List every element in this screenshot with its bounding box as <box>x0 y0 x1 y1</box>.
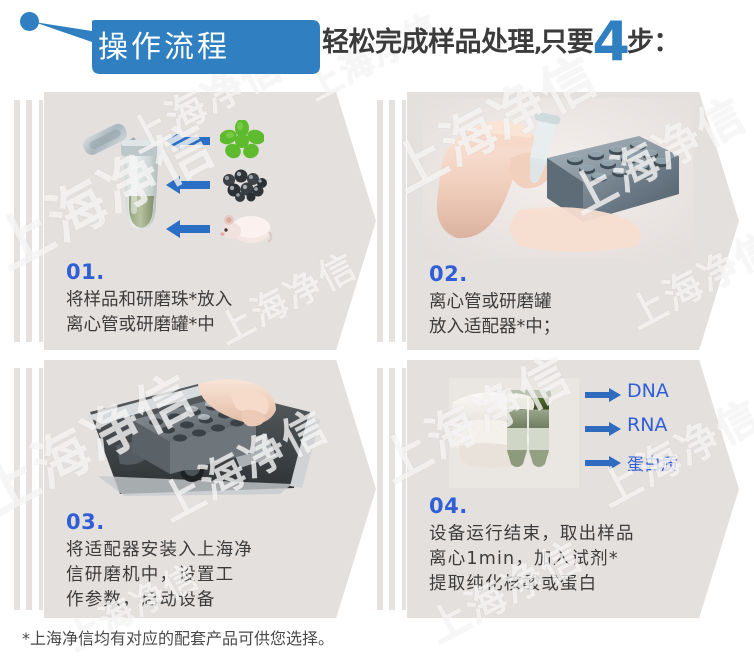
page-root: 操作流程 轻松完成样品处理,只要4步： <box>0 0 754 668</box>
step-number: 02. <box>429 262 468 286</box>
footer-note: *上海净信均有对应的配套产品可供您选择。 <box>22 628 334 650</box>
card-stripes <box>14 368 48 610</box>
arrow-right-icon <box>585 388 621 402</box>
section-banner: 操作流程 <box>20 8 320 74</box>
arrow-left-icon <box>166 220 210 238</box>
step-text: 设备运行结束，取出样品 离心1min，加入试剂* 提取纯化核酸或蛋白 <box>429 522 729 597</box>
mouse-icon <box>220 208 274 246</box>
banner-label: 操作流程 <box>98 26 308 70</box>
card-stripe <box>14 368 20 610</box>
step-number: 01. <box>66 260 105 284</box>
card-stripe <box>389 368 395 610</box>
card-stripes <box>377 100 411 342</box>
step-number: 04. <box>429 494 468 518</box>
grinding-beads-icon <box>220 166 268 202</box>
card-stripe <box>26 100 32 342</box>
output-label-protein: 蛋白质 <box>627 450 678 475</box>
step-text: 离心管或研磨罐 放入适配器*中； <box>429 290 719 340</box>
page-title-suffix: 步： <box>627 27 680 58</box>
card-stripe <box>14 100 20 342</box>
image-hand-loading-adapter <box>423 98 693 258</box>
step-card-01: 01. 将样品和研磨珠*放入 离心管或研磨罐*中 <box>14 92 376 350</box>
arrow-right-icon <box>585 456 621 470</box>
page-header: 操作流程 轻松完成样品处理,只要4步： <box>0 0 754 86</box>
card-stripe <box>377 100 383 342</box>
steps-grid: 01. 将样品和研磨珠*放入 离心管或研磨罐*中 <box>0 86 754 624</box>
card-stripe <box>26 368 32 610</box>
card-body: DNA RNA 蛋白质 04. 设备运行结束，取出样品 离心1min，加入试剂*… <box>407 360 739 618</box>
output-label-rna: RNA <box>627 414 667 436</box>
card-stripe <box>402 100 406 342</box>
card-stripe <box>377 368 383 610</box>
card-body: 02. 离心管或研磨罐 放入适配器*中； <box>407 92 739 350</box>
page-title-step-count: 4 <box>592 10 628 73</box>
page-title-mid: 只要 <box>540 27 593 58</box>
card-stripes <box>14 100 48 342</box>
step-text: 将样品和研磨珠*放入 离心管或研磨罐*中 <box>66 288 356 338</box>
page-title: 轻松完成样品处理,只要4步： <box>322 14 680 70</box>
image-installing-adapter <box>80 376 330 506</box>
image-gloved-hand-tubes <box>449 378 579 488</box>
card-body: 01. 将样品和研磨珠*放入 离心管或研磨罐*中 <box>44 92 376 350</box>
step-text: 将适配器安装入上海净 信研磨机中，设置工 作参数，启动设备 <box>66 538 362 613</box>
step-card-03: 03. 将适配器安装入上海净 信研磨机中，设置工 作参数，启动设备 <box>14 360 376 618</box>
step-number: 03. <box>66 510 105 534</box>
page-title-prefix: 轻松完成样品处理 <box>322 27 534 58</box>
step-card-02: 02. 离心管或研磨罐 放入适配器*中； <box>377 92 739 350</box>
output-label-dna: DNA <box>627 380 669 402</box>
card-stripe <box>39 100 43 342</box>
card-stripe <box>39 368 43 610</box>
step-card-04: DNA RNA 蛋白质 04. 设备运行结束，取出样品 离心1min，加入试剂*… <box>377 360 739 618</box>
leaf-icon <box>220 120 264 162</box>
arrow-left-icon <box>166 132 210 150</box>
arrow-right-icon <box>585 422 621 436</box>
card-body: 03. 将适配器安装入上海净 信研磨机中，设置工 作参数，启动设备 <box>44 360 376 618</box>
arrow-left-icon <box>166 176 210 194</box>
card-stripe <box>402 368 406 610</box>
card-stripe <box>389 100 395 342</box>
card-stripes <box>377 368 411 610</box>
